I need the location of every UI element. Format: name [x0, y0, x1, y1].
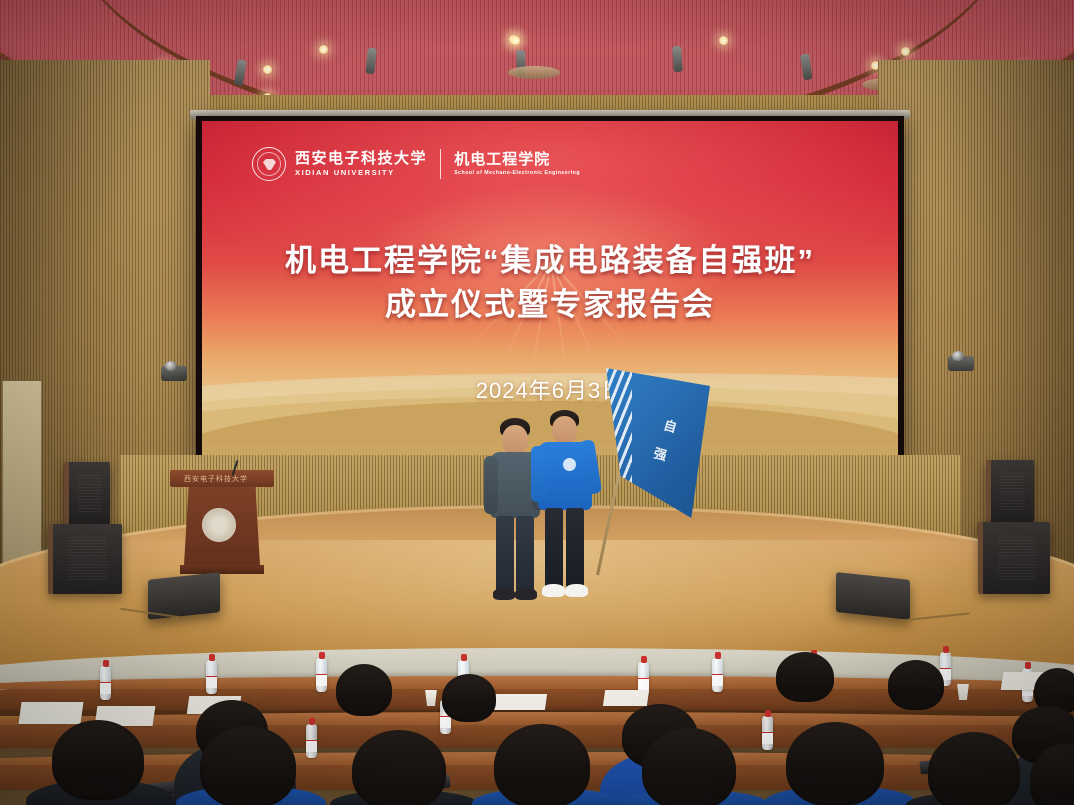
- university-seal-emblem: [202, 508, 236, 542]
- title-line-2: 成立仪式暨专家报告会: [202, 283, 898, 327]
- name-card: [603, 690, 649, 706]
- audience-head: [52, 720, 144, 800]
- water-bottle: [100, 666, 111, 700]
- water-bottle: [712, 658, 723, 692]
- audience-head: [494, 724, 590, 805]
- event-date: 2024年6月3日: [202, 373, 898, 405]
- screen-logo-lockup: 西安电子科技大学 XIDIAN UNIVERSITY 机电工程学院 School…: [252, 147, 580, 181]
- ceiling-spotlight: [318, 44, 329, 55]
- person-left-leg: [496, 516, 514, 592]
- person-left-shoe: [493, 588, 515, 600]
- person-left-head: [502, 425, 528, 454]
- flag-character: 强: [652, 442, 671, 464]
- person-left-arm: [484, 456, 498, 514]
- university-crest-icon: [252, 147, 286, 181]
- title-line-1: 机电工程学院“集成电路装备自强班”: [202, 239, 898, 283]
- person-right-leg: [545, 508, 563, 588]
- lectern-podium[interactable]: 西安电子科技大学: [176, 470, 268, 574]
- audience-head: [786, 722, 884, 805]
- audience-head: [928, 732, 1020, 805]
- person-right-head: [552, 416, 577, 444]
- water-bottle: [316, 658, 327, 692]
- audience-head: [442, 674, 496, 722]
- ceiling-spotlight: [262, 64, 273, 75]
- wall-camera-icon: [161, 366, 187, 381]
- ceiling-spotlight: [718, 35, 729, 46]
- speaker-sub-box: [48, 524, 122, 594]
- speaker-stack-right: [978, 460, 1056, 588]
- ceiling-diffuser: [508, 66, 560, 79]
- ceiling-spotlight: [510, 35, 521, 46]
- podium-base: [180, 565, 264, 574]
- audience-head: [888, 660, 944, 710]
- university-name-block: 西安电子科技大学 XIDIAN UNIVERSITY: [295, 151, 427, 177]
- handout-paper: [18, 702, 83, 724]
- water-bottle: [762, 716, 773, 750]
- person-left-leg: [516, 516, 534, 592]
- logo-divider: [440, 149, 441, 179]
- desk-surface: [0, 712, 1074, 725]
- audience-head: [200, 726, 296, 805]
- flag-character: 自: [662, 414, 681, 436]
- person-right-shoe: [565, 584, 588, 597]
- speaker-top-box: [986, 460, 1034, 522]
- water-bottle: [306, 724, 317, 758]
- ceiling-spotlight: [900, 46, 911, 57]
- led-screen: 西安电子科技大学 XIDIAN UNIVERSITY 机电工程学院 School…: [202, 121, 898, 457]
- track-light: [672, 46, 683, 73]
- screen-title-block: 机电工程学院“集成电路装备自强班” 成立仪式暨专家报告会: [202, 239, 898, 327]
- person-right-arm: [531, 446, 546, 502]
- handout-paper: [491, 694, 547, 710]
- water-bottle: [206, 660, 217, 694]
- person-right: [533, 410, 597, 610]
- wall-camera-icon: [948, 356, 974, 371]
- person-right-shoe: [542, 584, 565, 597]
- college-name-en: School of Mechano-Electronic Engineering: [454, 171, 580, 176]
- podium-calligraphy: 西安电子科技大学: [172, 474, 260, 484]
- university-name-cn: 西安电子科技大学: [295, 151, 427, 166]
- podium-top: 西安电子科技大学: [170, 470, 274, 487]
- speaker-sub-box: [978, 522, 1050, 594]
- college-name-block: 机电工程学院 School of Mechano-Electronic Engi…: [454, 152, 580, 176]
- floor-monitor-right: [836, 572, 910, 620]
- person-right-leg: [566, 508, 584, 588]
- audience-head: [776, 652, 834, 702]
- audience-head: [352, 730, 446, 805]
- speaker-stack-left: [48, 462, 126, 590]
- speaker-top-box: [64, 462, 110, 524]
- auditorium-photo: 西安电子科技大学 XIDIAN UNIVERSITY 机电工程学院 School…: [0, 0, 1074, 805]
- college-name-cn: 机电工程学院: [454, 152, 580, 167]
- audience-head: [642, 728, 736, 805]
- person-right-chest-logo: [563, 458, 576, 471]
- audience-head: [336, 664, 392, 716]
- university-name-en: XIDIAN UNIVERSITY: [295, 169, 427, 177]
